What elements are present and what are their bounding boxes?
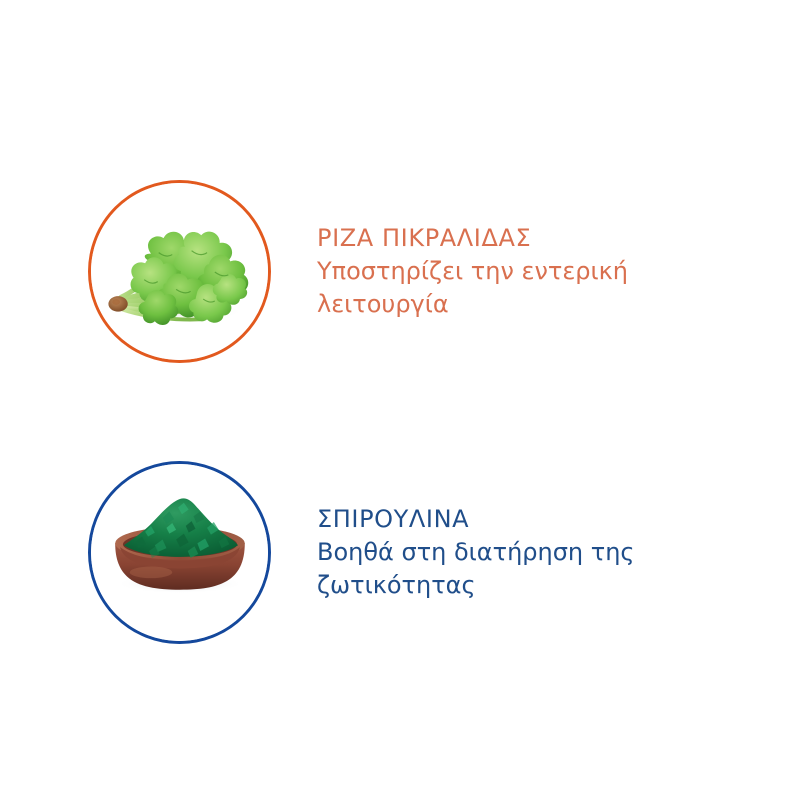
dandelion-greens-photo — [91, 183, 268, 360]
ingredient-description-dandelion: Υποστηρίζει την εντερική λειτουργία — [317, 255, 647, 321]
ingredient-title-dandelion: ΡΙΖΑ ΠΙΚΡΑΛΙΔΑΣ — [317, 222, 800, 255]
dandelion-greens-illustration — [91, 183, 268, 360]
ingredient-image-badge-dandelion — [88, 180, 271, 363]
ingredient-image-badge-spirulina — [88, 461, 271, 644]
ingredient-row-dandelion: ΡΙΖΑ ΠΙΚΡΑΛΙΔΑΣ Υποστηρίζει την εντερική… — [0, 180, 800, 363]
spirulina-bowl-illustration — [91, 464, 268, 641]
ingredient-description-spirulina: Βοηθά στη διατήρηση της ζωτικότητας — [317, 536, 647, 602]
ingredient-title-spirulina: ΣΠΙΡΟΥΛΙΝΑ — [317, 503, 800, 536]
spirulina-powder-bowl-photo — [91, 464, 268, 641]
ingredient-text-dandelion: ΡΙΖΑ ΠΙΚΡΑΛΙΔΑΣ Υποστηρίζει την εντερική… — [317, 222, 800, 321]
ingredient-row-spirulina: ΣΠΙΡΟΥΛΙΝΑ Βοηθά στη διατήρηση της ζωτικ… — [0, 461, 800, 644]
ingredient-text-spirulina: ΣΠΙΡΟΥΛΙΝΑ Βοηθά στη διατήρηση της ζωτικ… — [317, 503, 800, 602]
